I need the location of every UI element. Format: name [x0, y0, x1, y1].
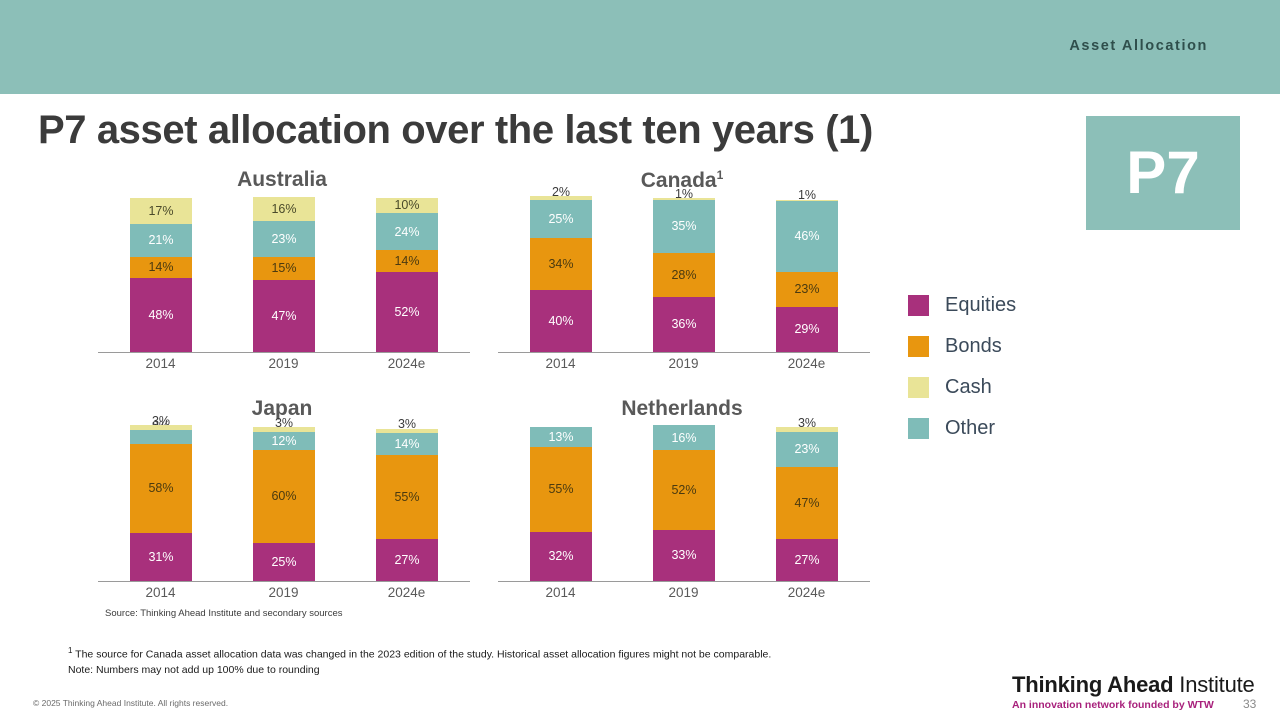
bar-segment-label: 14%: [394, 255, 419, 268]
bar-segment-bonds[interactable]: 28%: [653, 253, 715, 296]
x-axis-tick-labels: 201420192024e: [98, 585, 470, 605]
legend-label: Equities: [945, 294, 1016, 317]
bar-segment-label: 1%: [798, 189, 816, 202]
bar-segment-bonds[interactable]: 14%: [376, 250, 438, 272]
stacked-bar[interactable]: 47%15%23%16%: [253, 196, 315, 352]
stacked-bar[interactable]: 40%34%25%2%: [530, 196, 592, 352]
stacked-bar[interactable]: 48%14%21%17%: [130, 198, 192, 352]
bar-segment-label: 32%: [548, 550, 573, 563]
bar-group: 27%55%14%3%: [350, 427, 463, 581]
bar-group: 32%55%13%: [504, 427, 617, 581]
bar-segment-label: 24%: [394, 226, 419, 239]
stacked-bar[interactable]: 36%28%35%1%: [653, 198, 715, 352]
legend-swatch-icon: [908, 418, 929, 439]
bar-segment-label: 27%: [394, 554, 419, 567]
chart-title-text: Australia: [237, 168, 327, 191]
bar-segment-label: 27%: [794, 554, 819, 567]
x-axis-tick-label: 2014: [104, 356, 217, 371]
bar-segment-other[interactable]: 9%: [130, 430, 192, 444]
bar-segment-bonds[interactable]: 60%: [253, 450, 315, 542]
stacked-bar[interactable]: 33%52%16%: [653, 425, 715, 581]
x-axis-tick-label: 2019: [627, 356, 740, 371]
chart-panel-canada: Canada140%34%25%2%36%28%35%1%29%23%46%1%…: [482, 160, 882, 390]
x-axis-tick-label: 2024e: [350, 585, 463, 600]
bar-segment-other[interactable]: 46%: [776, 201, 838, 272]
legend-label: Other: [945, 417, 995, 440]
footnote-text: The source for Canada asset allocation d…: [72, 649, 771, 661]
bar-segment-label: 40%: [548, 315, 573, 328]
copyright-text: © 2025 Thinking Ahead Institute. All rig…: [33, 698, 228, 708]
bar-segment-other[interactable]: 14%: [376, 433, 438, 455]
bar-segment-label: 14%: [394, 438, 419, 451]
chart-title: Australia: [82, 168, 482, 192]
chart-panel-japan: Japan31%58%9%3%25%60%12%3%27%55%14%3%201…: [82, 389, 482, 619]
bar-segment-bonds[interactable]: 34%: [530, 238, 592, 290]
x-axis-tick-labels: 201420192024e: [498, 585, 870, 605]
stacked-bar[interactable]: 29%23%46%1%: [776, 200, 838, 352]
bar-group: 33%52%16%: [627, 427, 740, 581]
rounding-note: Note: Numbers may not add up 100% due to…: [68, 663, 771, 679]
footnotes: 1 The source for Canada asset allocation…: [68, 645, 771, 679]
page-number: 33: [1243, 697, 1256, 711]
bar-segment-other[interactable]: 25%: [530, 200, 592, 239]
bar-segment-equities[interactable]: 29%: [776, 307, 838, 352]
brand-name: Thinking Ahead Institute: [1012, 672, 1255, 698]
bar-segment-cash[interactable]: 16%: [253, 197, 315, 222]
header-band: Asset Allocation: [0, 0, 1280, 94]
legend-item-other[interactable]: Other: [908, 408, 1016, 449]
bar-segment-cash[interactable]: 1%: [653, 198, 715, 200]
bar-segment-label: 31%: [148, 551, 173, 564]
bar-segment-label: 29%: [794, 323, 819, 336]
stacked-bar[interactable]: 32%55%13%: [530, 427, 592, 581]
brand-tagline: An innovation network founded by WTW: [1012, 699, 1255, 711]
bar-group: 27%47%23%3%: [750, 427, 863, 581]
bar-segment-label: 23%: [271, 233, 296, 246]
bar-segment-label: 52%: [394, 306, 419, 319]
bar-segment-label: 33%: [671, 549, 696, 562]
bar-segment-cash[interactable]: 1%: [776, 200, 838, 202]
bar-segment-label: 23%: [794, 443, 819, 456]
bar-group: 48%14%21%17%: [104, 198, 217, 352]
bar-segment-equities[interactable]: 33%: [653, 530, 715, 581]
bar-segment-cash[interactable]: 3%: [776, 427, 838, 432]
bar-segment-label: 34%: [548, 258, 573, 271]
bar-segment-cash[interactable]: 17%: [130, 198, 192, 224]
bar-segment-bonds[interactable]: 55%: [376, 455, 438, 540]
bar-segment-label: 23%: [794, 283, 819, 296]
plot-area: 40%34%25%2%36%28%35%1%29%23%46%1%: [498, 198, 870, 353]
bar-segment-label: 55%: [394, 491, 419, 504]
bar-segment-bonds[interactable]: 52%: [653, 450, 715, 530]
bar-segment-label: 13%: [548, 431, 573, 444]
bar-segment-label: 35%: [671, 220, 696, 233]
bar-group: 40%34%25%2%: [504, 198, 617, 352]
bar-segment-cash[interactable]: 3%: [376, 429, 438, 434]
x-axis-line: [498, 352, 870, 353]
bar-segment-other[interactable]: 13%: [530, 427, 592, 447]
chart-title-superscript: 1: [717, 168, 724, 182]
bar-segment-cash[interactable]: 2%: [530, 196, 592, 199]
x-axis-tick-labels: 201420192024e: [98, 356, 470, 376]
x-axis-tick-label: 2019: [227, 356, 340, 371]
bar-segment-label: 28%: [671, 269, 696, 282]
bar-segment-cash[interactable]: 10%: [376, 198, 438, 213]
bar-segment-cash[interactable]: 3%: [130, 425, 192, 430]
bar-segment-label: 47%: [271, 310, 296, 323]
chart-title-text: Netherlands: [621, 397, 742, 420]
x-axis-tick-label: 2019: [627, 585, 740, 600]
bar-segment-label: 16%: [671, 432, 696, 445]
x-axis-tick-label: 2024e: [350, 356, 463, 371]
stacked-bar[interactable]: 31%58%9%3%: [130, 425, 192, 581]
bar-segment-label: 3%: [798, 417, 816, 430]
p7-badge-label: P7: [1126, 143, 1199, 203]
chart-title: Netherlands: [482, 397, 882, 421]
bar-segment-label: 1%: [675, 188, 693, 201]
bar-segment-bonds[interactable]: 15%: [253, 257, 315, 280]
bar-segment-other[interactable]: 21%: [130, 224, 192, 256]
bar-segment-other[interactable]: 23%: [776, 432, 838, 467]
bar-segment-label: 12%: [271, 435, 296, 448]
bar-segment-label: 25%: [271, 556, 296, 569]
bar-segment-label: 48%: [148, 309, 173, 322]
bar-segment-equities[interactable]: 31%: [130, 533, 192, 581]
bar-segment-label: 3%: [275, 417, 293, 430]
x-axis-tick-label: 2024e: [750, 356, 863, 371]
bar-segment-bonds[interactable]: 23%: [776, 272, 838, 307]
bar-segment-equities[interactable]: 47%: [253, 280, 315, 352]
bar-group: 29%23%46%1%: [750, 198, 863, 352]
legend-item-bonds[interactable]: Bonds: [908, 326, 1016, 367]
x-axis-tick-label: 2014: [504, 585, 617, 600]
x-axis-tick-label: 2014: [104, 585, 217, 600]
page-title: P7 asset allocation over the last ten ye…: [38, 108, 873, 153]
bar-segment-equities[interactable]: 25%: [253, 543, 315, 582]
bar-group: 36%28%35%1%: [627, 198, 740, 352]
bar-segment-other[interactable]: 16%: [653, 425, 715, 450]
x-axis-tick-label: 2019: [227, 585, 340, 600]
bar-segment-label: 52%: [671, 484, 696, 497]
bar-segment-other[interactable]: 35%: [653, 200, 715, 254]
bar-group: 52%14%24%10%: [350, 198, 463, 352]
bar-segment-label: 46%: [794, 230, 819, 243]
bar-group: 47%15%23%16%: [227, 198, 340, 352]
stacked-bar[interactable]: 25%60%12%3%: [253, 427, 315, 581]
legend-swatch-icon: [908, 377, 929, 398]
bar-segment-equities[interactable]: 27%: [376, 539, 438, 581]
bar-segment-label: 60%: [271, 490, 296, 503]
chart-panel-australia: Australia48%14%21%17%47%15%23%16%52%14%2…: [82, 160, 482, 390]
stacked-bar[interactable]: 52%14%24%10%: [376, 198, 438, 352]
bar-segment-label: 10%: [394, 199, 419, 212]
bar-segment-equities[interactable]: 40%: [530, 290, 592, 352]
bar-segment-other[interactable]: 23%: [253, 221, 315, 256]
plot-area: 48%14%21%17%47%15%23%16%52%14%24%10%: [98, 198, 470, 353]
bar-segment-bonds[interactable]: 14%: [130, 257, 192, 279]
bar-segment-label: 47%: [794, 497, 819, 510]
bar-segment-label: 58%: [148, 482, 173, 495]
bar-segment-label: 16%: [271, 203, 296, 216]
legend-swatch-icon: [908, 295, 929, 316]
chart-legend: EquitiesBondsCashOther: [908, 285, 1016, 449]
bar-segment-label: 17%: [148, 205, 173, 218]
bar-segment-bonds[interactable]: 55%: [530, 447, 592, 532]
x-axis-line: [498, 581, 870, 582]
header-eyebrow: Asset Allocation: [1069, 38, 1208, 54]
x-axis-line: [98, 352, 470, 353]
bar-segment-equities[interactable]: 52%: [376, 272, 438, 352]
legend-item-equities[interactable]: Equities: [908, 285, 1016, 326]
legend-swatch-icon: [908, 336, 929, 357]
x-axis-tick-label: 2024e: [750, 585, 863, 600]
footnote-canada: 1 The source for Canada asset allocation…: [68, 645, 771, 663]
bar-segment-label: 2%: [552, 186, 570, 199]
legend-label: Cash: [945, 376, 992, 399]
x-axis-tick-labels: 201420192024e: [498, 356, 870, 376]
p7-badge: P7: [1086, 116, 1240, 230]
stacked-bar[interactable]: 27%47%23%3%: [776, 427, 838, 581]
bar-segment-equities[interactable]: 27%: [776, 539, 838, 581]
bar-segment-label: 3%: [398, 418, 416, 431]
bar-segment-label: 55%: [548, 483, 573, 496]
brand-name-bold: Thinking Ahead: [1012, 672, 1173, 697]
bar-segment-equities[interactable]: 48%: [130, 278, 192, 352]
legend-label: Bonds: [945, 335, 1002, 358]
bar-segment-other[interactable]: 12%: [253, 432, 315, 450]
bar-segment-bonds[interactable]: 47%: [776, 467, 838, 539]
bar-group: 31%58%9%3%: [104, 427, 217, 581]
bar-segment-label: 25%: [548, 213, 573, 226]
bar-segment-label: 15%: [271, 262, 296, 275]
bar-segment-other[interactable]: 24%: [376, 213, 438, 250]
chart-panel-netherlands: Netherlands32%55%13%33%52%16%27%47%23%3%…: [482, 389, 882, 619]
brand-logo: Thinking Ahead Institute An innovation n…: [1012, 672, 1255, 711]
plot-area: 31%58%9%3%25%60%12%3%27%55%14%3%: [98, 427, 470, 582]
bar-segment-cash[interactable]: 3%: [253, 427, 315, 432]
bar-group: 25%60%12%3%: [227, 427, 340, 581]
bar-segment-label: 3%: [152, 415, 170, 428]
bar-segment-label: 36%: [671, 318, 696, 331]
bar-segment-label: 21%: [148, 234, 173, 247]
legend-item-cash[interactable]: Cash: [908, 367, 1016, 408]
plot-area: 32%55%13%33%52%16%27%47%23%3%: [498, 427, 870, 582]
bar-segment-bonds[interactable]: 58%: [130, 444, 192, 533]
x-axis-tick-label: 2014: [504, 356, 617, 371]
x-axis-line: [98, 581, 470, 582]
stacked-bar[interactable]: 27%55%14%3%: [376, 429, 438, 581]
source-note: Source: Thinking Ahead Institute and sec…: [105, 608, 342, 619]
bar-segment-equities[interactable]: 32%: [530, 532, 592, 581]
bar-segment-label: 14%: [148, 261, 173, 274]
brand-name-light: Institute: [1173, 672, 1254, 697]
bar-segment-equities[interactable]: 36%: [653, 297, 715, 352]
